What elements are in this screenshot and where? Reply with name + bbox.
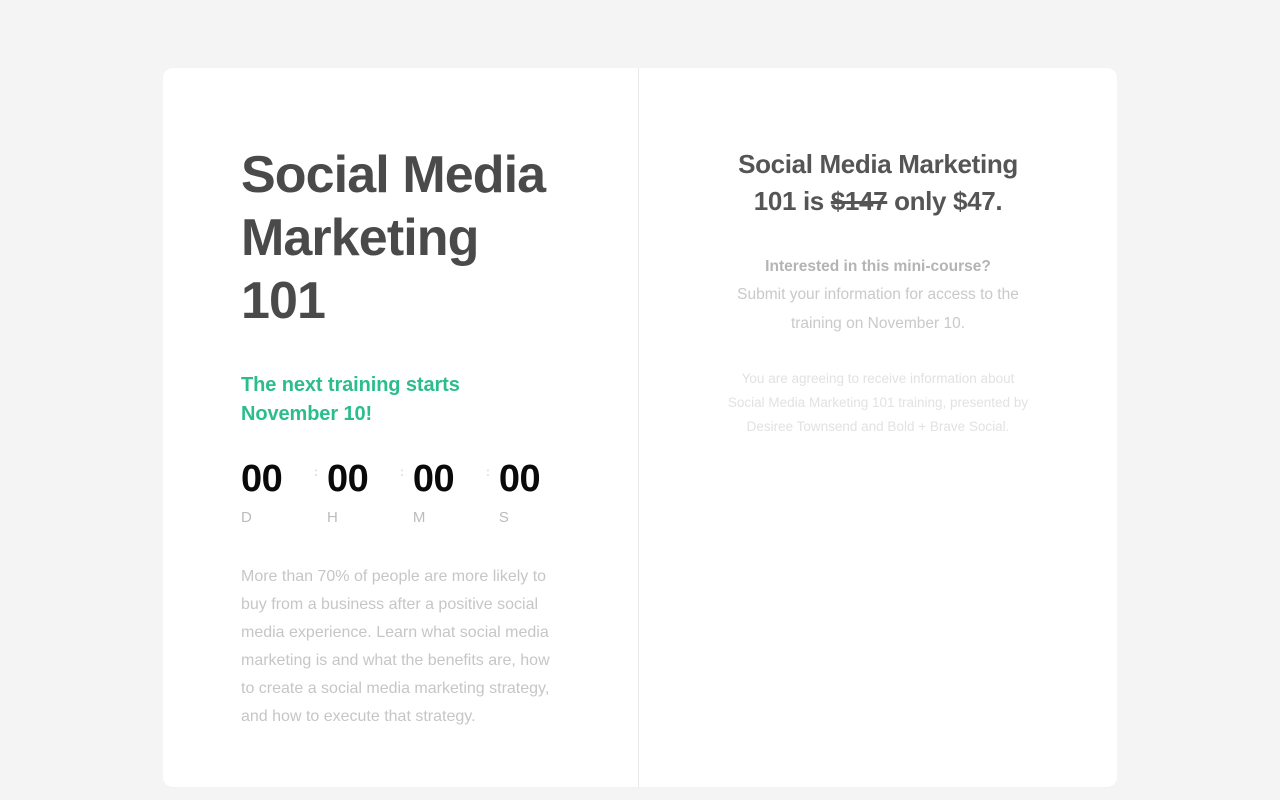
countdown-days-value: 00 bbox=[241, 460, 305, 498]
course-info-content: Social Media Marketing 101 The next trai… bbox=[163, 68, 563, 731]
countdown-unit-days: 00 D bbox=[241, 460, 305, 525]
signup-content: Social Media Marketing 101 is $147 only … bbox=[726, 68, 1031, 787]
offer-middle-text: only bbox=[887, 186, 953, 216]
countdown-unit-hours: 00 H bbox=[327, 460, 391, 525]
countdown-minutes-value: 00 bbox=[413, 460, 477, 498]
signup-prompt-heading: Interested in this mini-course? bbox=[765, 258, 991, 275]
countdown-separator-icon: : bbox=[391, 460, 413, 485]
countdown-hours-label: H bbox=[327, 510, 391, 525]
countdown-unit-seconds: 00 S bbox=[499, 460, 563, 525]
offer-headline: Social Media Marketing 101 is $147 only … bbox=[726, 146, 1031, 220]
course-info-panel: Social Media Marketing 101 The next trai… bbox=[163, 68, 638, 787]
landing-page: Social Media Marketing 101 The next trai… bbox=[0, 0, 1280, 800]
countdown-unit-minutes: 00 M bbox=[413, 460, 477, 525]
countdown-seconds-label: S bbox=[499, 510, 563, 525]
offer-card: Social Media Marketing 101 The next trai… bbox=[163, 68, 1117, 787]
countdown-timer: 00 D : 00 H : 00 M : 00 bbox=[241, 460, 563, 525]
signup-prompt: Interested in this mini-course?Submit yo… bbox=[726, 253, 1031, 338]
next-training-subheadline: The next training starts November 10! bbox=[241, 371, 481, 429]
countdown-separator-icon: : bbox=[477, 460, 499, 485]
original-price: $147 bbox=[831, 186, 887, 216]
offer-trailing-text: . bbox=[995, 186, 1002, 216]
sale-price: $47 bbox=[953, 186, 995, 216]
course-description: More than 70% of people are more likely … bbox=[241, 563, 563, 731]
countdown-minutes-label: M bbox=[413, 510, 477, 525]
countdown-hours-value: 00 bbox=[327, 460, 391, 498]
consent-fineprint: You are agreeing to receive information … bbox=[726, 367, 1031, 439]
countdown-seconds-value: 00 bbox=[499, 460, 563, 498]
countdown-days-label: D bbox=[241, 510, 305, 525]
signup-prompt-body: Submit your information for access to th… bbox=[737, 286, 1019, 331]
signup-panel: Social Media Marketing 101 is $147 only … bbox=[639, 68, 1117, 787]
countdown-separator-icon: : bbox=[305, 460, 327, 485]
page-title: Social Media Marketing 101 bbox=[241, 144, 563, 333]
